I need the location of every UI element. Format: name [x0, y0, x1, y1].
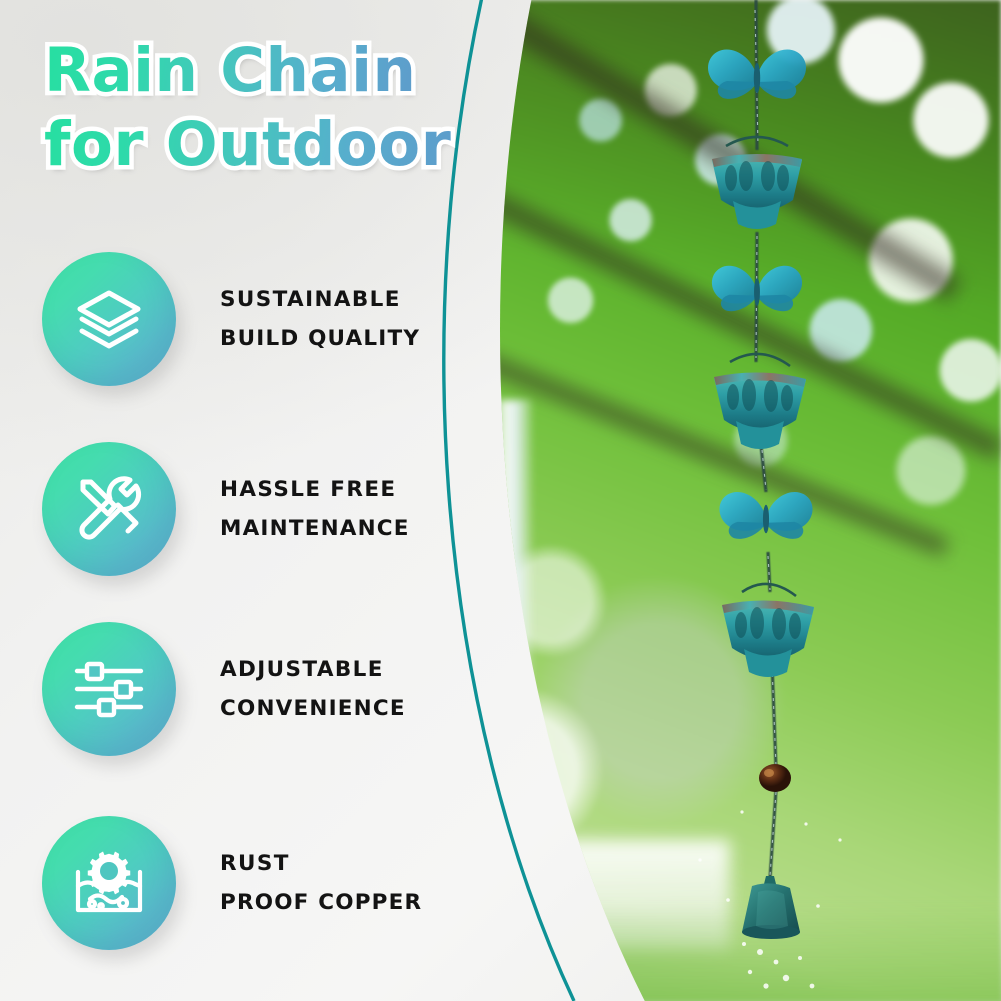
title-line-1-text: Rain Chain: [44, 35, 416, 106]
feature-label-line-2: MAINTENANCE: [220, 509, 410, 548]
feature-label-line-2: BUILD QUALITY: [220, 319, 420, 358]
feature-label-line-1: ADJUSTABLE: [220, 650, 406, 689]
feature-label-line-2: PROOF COPPER: [220, 883, 422, 922]
feature-icon-circle: [42, 816, 176, 950]
feature-label: HASSLE FREE MAINTENANCE: [220, 470, 410, 548]
feature-label-line-1: SUSTAINABLE: [220, 280, 420, 319]
tools-icon: [70, 470, 148, 548]
feature-label-line-2: CONVENIENCE: [220, 689, 406, 728]
feature-icon-circle: [42, 252, 176, 386]
gear-in-liquid-icon: [68, 842, 150, 924]
title-line-2: for Outdoor for Outdoor: [44, 108, 464, 182]
feature-sustainable-build-quality: SUSTAINABLE BUILD QUALITY: [42, 252, 420, 386]
feature-adjustable-convenience: ADJUSTABLE CONVENIENCE: [42, 622, 406, 756]
title-line-1: Rain Chain Rain Chain: [44, 34, 464, 108]
page-title: Rain Chain Rain Chain for Outdoor for Ou…: [44, 34, 464, 182]
sliders-icon: [69, 649, 149, 729]
feature-label: ADJUSTABLE CONVENIENCE: [220, 650, 406, 728]
feature-label-line-1: RUST: [220, 844, 422, 883]
feature-label: RUST PROOF COPPER: [220, 844, 422, 922]
title-line-2-text: for Outdoor: [44, 109, 451, 180]
feature-rust-proof-copper: RUST PROOF COPPER: [42, 816, 422, 950]
feature-label-line-1: HASSLE FREE: [220, 470, 410, 509]
feature-icon-circle: [42, 442, 176, 576]
feature-hassle-free-maintenance: HASSLE FREE MAINTENANCE: [42, 442, 410, 576]
layers-icon: [70, 280, 148, 358]
feature-label: SUSTAINABLE BUILD QUALITY: [220, 280, 420, 358]
feature-icon-circle: [42, 622, 176, 756]
product-infographic: Rain Chain Rain Chain for Outdoor for Ou…: [0, 0, 1001, 1001]
